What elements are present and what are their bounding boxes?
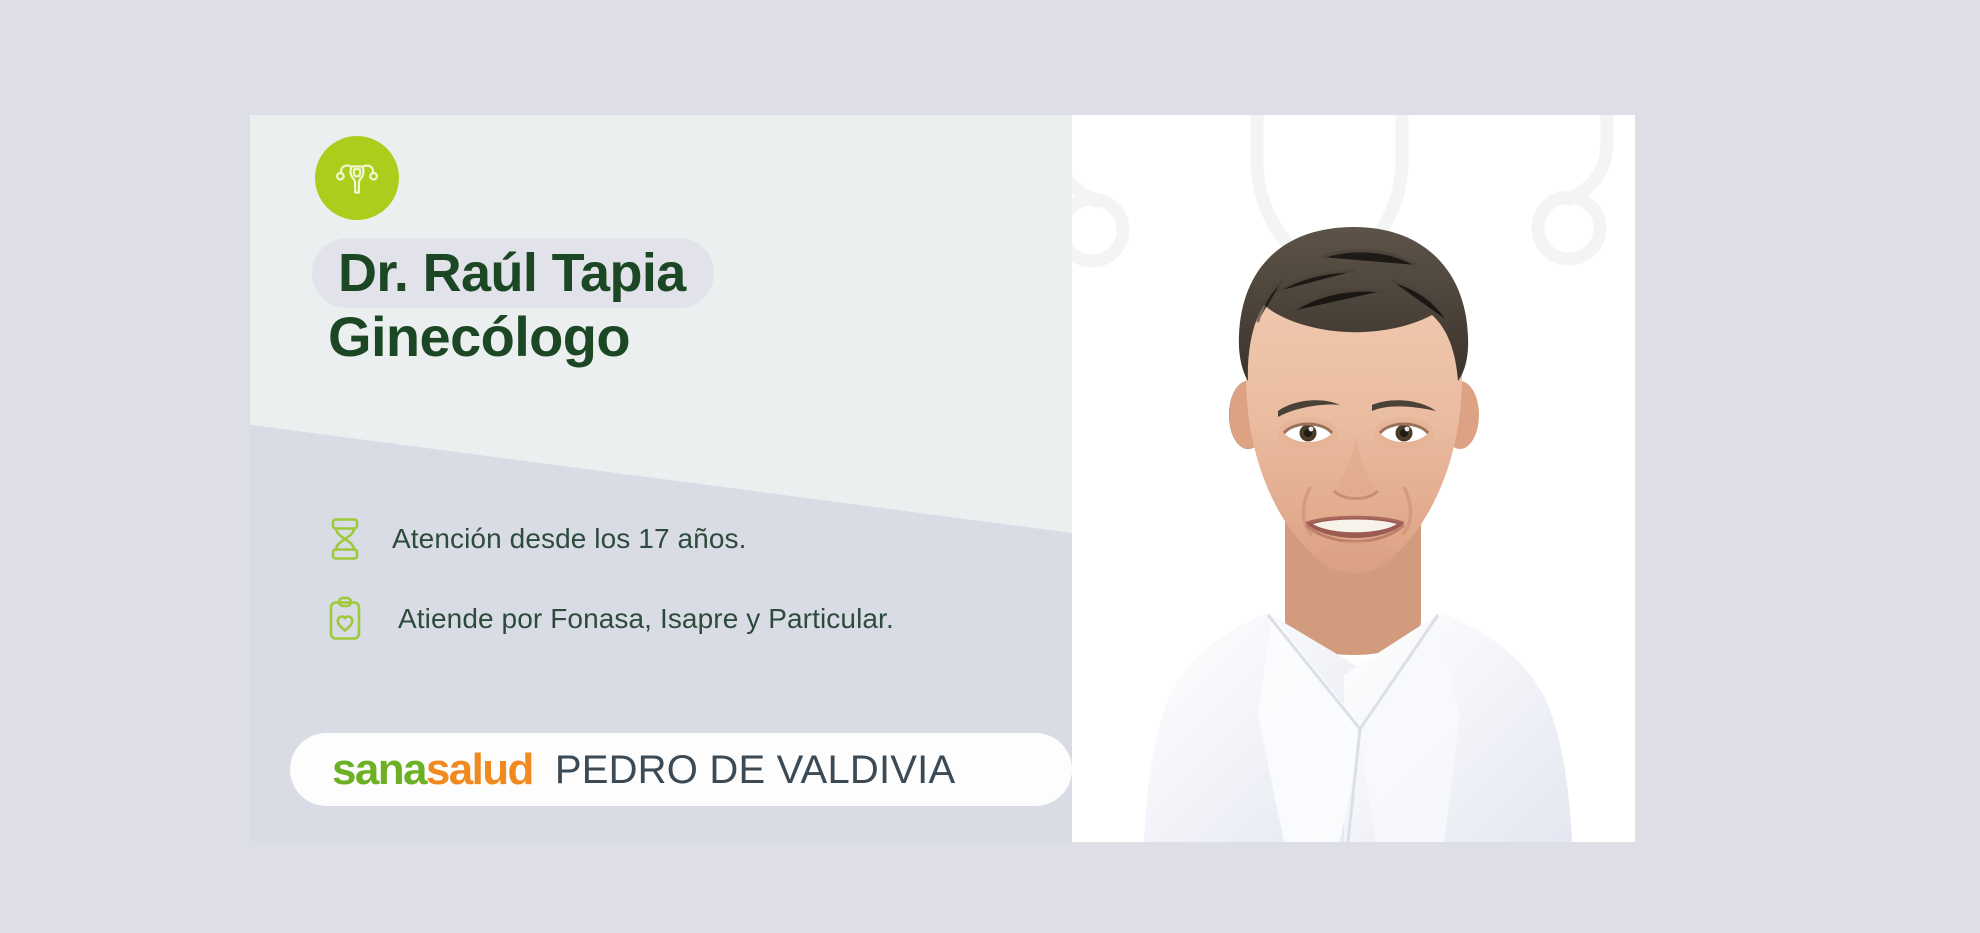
list-item: Atención desde los 17 años. — [324, 513, 1024, 565]
doctor-name-pill: Dr. Raúl Tapia — [312, 238, 714, 308]
hourglass-icon — [324, 517, 366, 561]
info-panel: Dr. Raúl Tapia Ginecólogo Atención d — [250, 115, 1072, 842]
logo-text-sana: sana — [332, 745, 426, 794]
info-content: Dr. Raúl Tapia Ginecólogo Atención d — [250, 115, 1072, 842]
feature-label: Atiende por Fonasa, Isapre y Particular. — [398, 603, 894, 635]
feature-label: Atención desde los 17 años. — [392, 523, 747, 555]
branch-name: PEDRO DE VALDIVIA — [555, 750, 956, 790]
uterus-icon — [331, 152, 383, 204]
doctor-photo-panel — [1072, 115, 1635, 842]
page-title: Dr. Raúl Tapia — [338, 246, 686, 300]
doctor-specialty: Ginecólogo — [328, 304, 630, 370]
doctor-profile-card: Dr. Raúl Tapia Ginecólogo Atención d — [250, 115, 1635, 842]
list-item: Atiende por Fonasa, Isapre y Particular. — [324, 593, 1024, 645]
logo-text-salud: salud — [426, 745, 533, 794]
feature-list: Atención desde los 17 años. Atiende por … — [324, 513, 1024, 673]
sanasalud-logo: sanasalud — [332, 748, 533, 792]
specialty-badge — [315, 136, 399, 220]
clipboard-heart-icon — [324, 596, 366, 642]
brand-banner: sanasalud PEDRO DE VALDIVIA — [290, 733, 1072, 806]
doctor-portrait — [1072, 115, 1635, 842]
